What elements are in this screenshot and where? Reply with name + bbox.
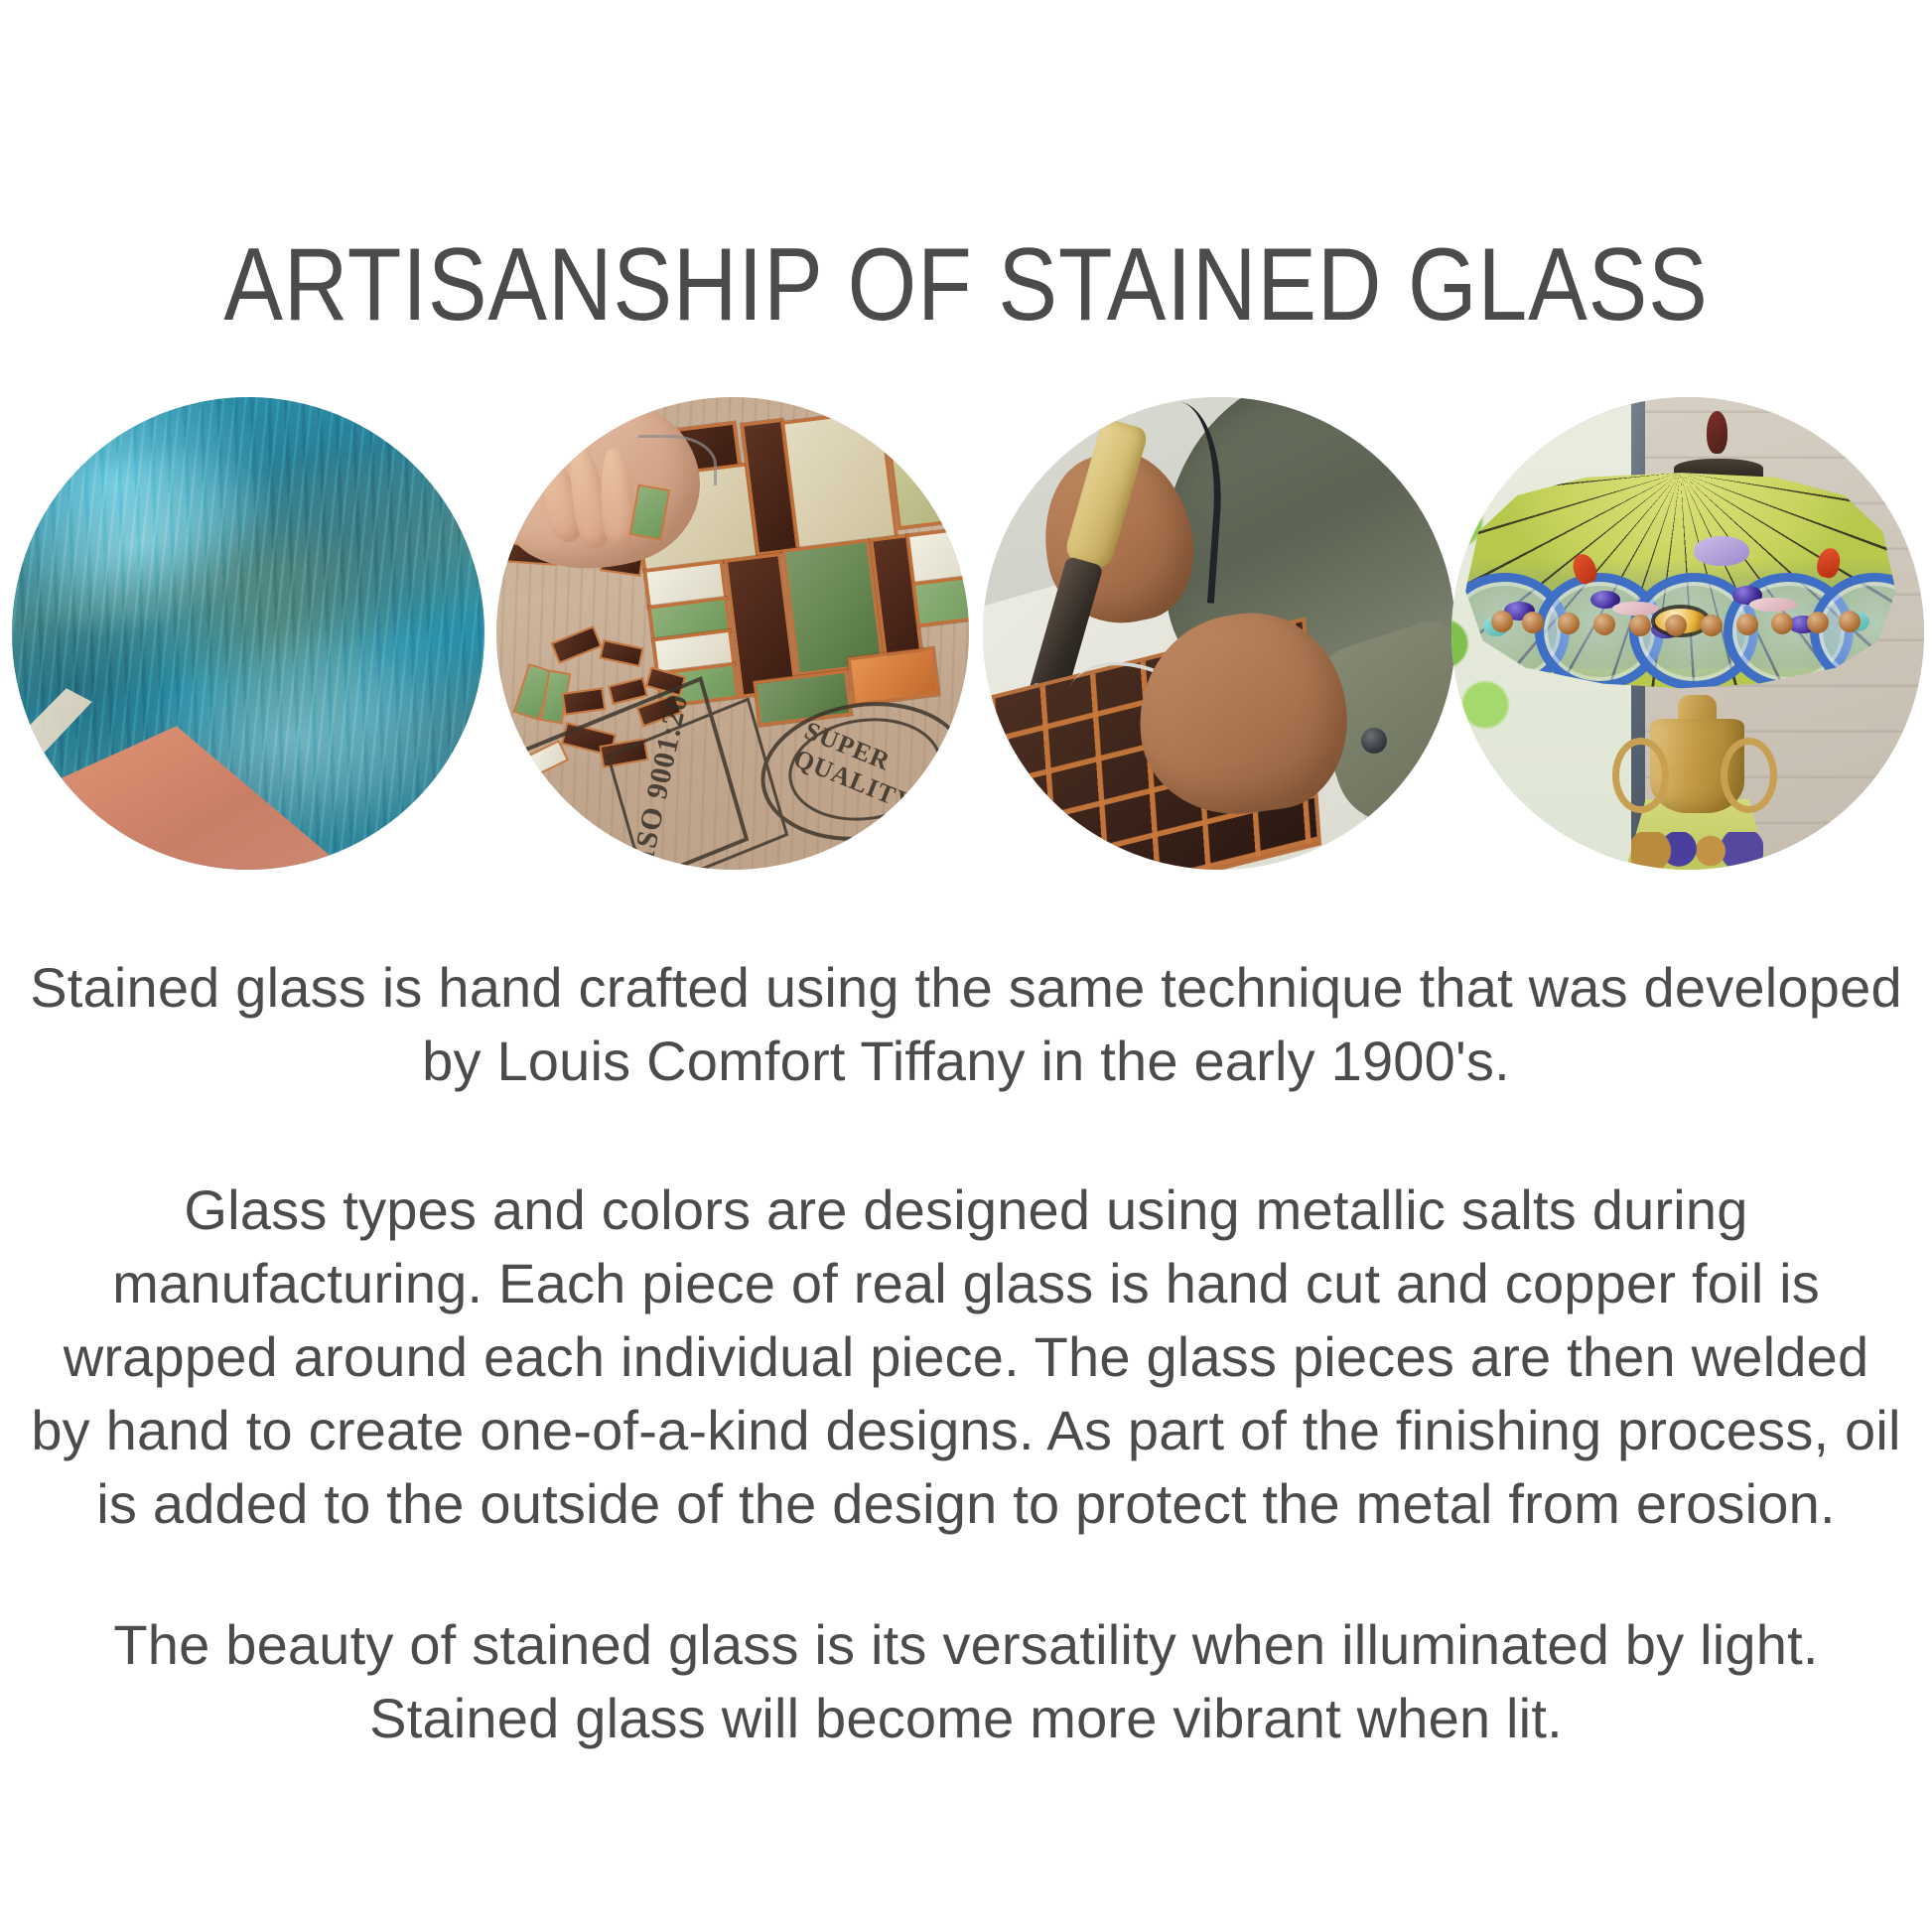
infographic-page: ARTISANSHIP OF STAINED GLASS (0, 0, 1932, 1932)
tiffany-lamp-illustration (1451, 397, 1924, 870)
stained-glass-shade (1465, 473, 1895, 699)
lamp-handle-right (1721, 738, 1777, 813)
finger-ring (506, 473, 539, 501)
soldering-illustration (983, 397, 1455, 870)
glass-tile (885, 404, 969, 528)
lower-shade-jewels (1631, 832, 1763, 870)
glass-tile (912, 573, 969, 627)
lamp-handle-left (1612, 738, 1669, 813)
fringe-bead (1491, 611, 1513, 632)
worktable-stamp-markings: ISO 9001:20 SUPER QUALITY (525, 690, 960, 870)
page-title: ARTISANSHIP OF STAINED GLASS (135, 230, 1797, 340)
fringe-bead (1629, 615, 1651, 636)
gallery-image-soldering (983, 397, 1455, 870)
paragraph-process: Glass types and colors are designed usin… (30, 1173, 1902, 1541)
fringe-bead (1839, 611, 1861, 632)
gallery-image-finished-lamp (1451, 397, 1924, 870)
paragraph-origin: Stained glass is hand crafted using the … (30, 951, 1902, 1098)
image-gallery: ISO 9001:20 SUPER QUALITY (0, 397, 1932, 872)
gallery-image-glass-sheet (12, 397, 484, 870)
glass-sheet-illustration (12, 397, 484, 870)
cuff-button (1361, 728, 1387, 754)
glass-tile (781, 409, 898, 550)
gallery-image-cutting-and-foiling: ISO 9001:20 SUPER QUALITY (496, 397, 969, 870)
fringe-bead (1701, 615, 1723, 636)
fringe-bead (1736, 614, 1758, 635)
fringe-bead (1593, 614, 1615, 635)
fringe-bead (1665, 615, 1687, 636)
shade-bead-fringe (1483, 605, 1879, 622)
shade-lilac-crest (1694, 536, 1749, 566)
paragraph-beauty: The beauty of stained glass is its versa… (30, 1608, 1902, 1755)
foiling-illustration: ISO 9001:20 SUPER QUALITY (496, 397, 969, 870)
lamp-finial (1707, 411, 1727, 454)
